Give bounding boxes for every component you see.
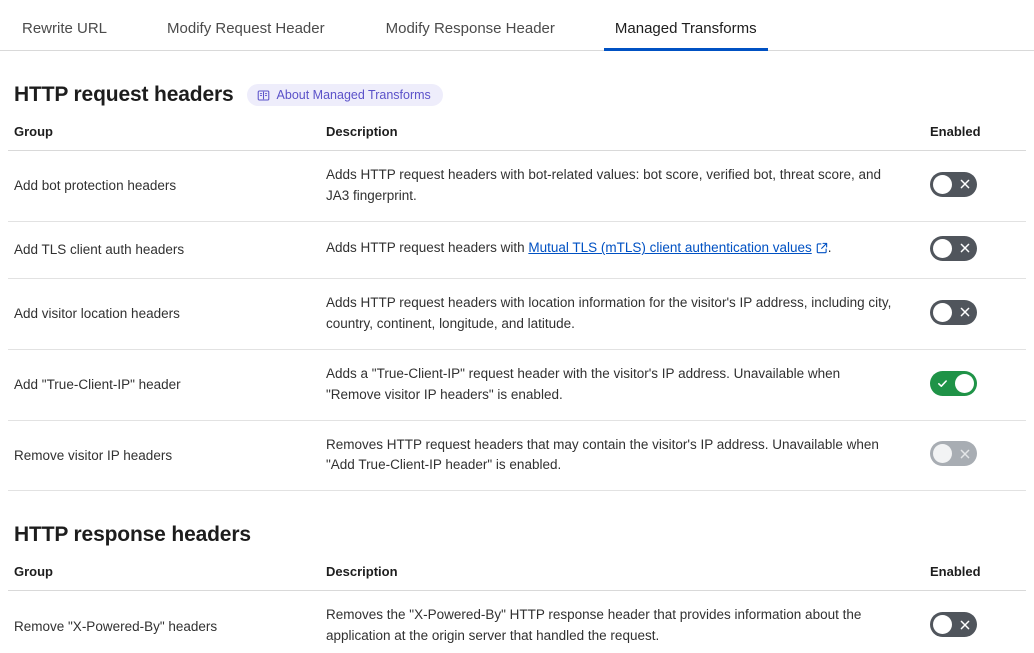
column-header-enabled: Enabled	[922, 124, 1026, 151]
row-group-label: Add bot protection headers	[8, 151, 314, 222]
row-description: Adds HTTP request headers with Mutual TL…	[314, 221, 922, 278]
table-row: Add "True-Client-IP" header Adds a "True…	[8, 349, 1026, 420]
check-icon	[930, 371, 955, 396]
row-enabled-cell	[922, 221, 1026, 278]
row-description: Removes the "X-Powered-By" HTTP response…	[314, 591, 922, 653]
response-headers-table: Group Description Enabled Remove "X-Powe…	[8, 564, 1026, 653]
column-header-group: Group	[8, 124, 314, 151]
description-text-before: Adds HTTP request headers with	[326, 240, 528, 255]
http-response-headers-section: HTTP response headers Group Description …	[0, 523, 1034, 653]
tab-modify-request-header[interactable]: Modify Request Header	[167, 21, 325, 50]
row-description: Adds HTTP request headers with bot-relat…	[314, 151, 922, 222]
toggle-add-bot-protection-headers[interactable]	[930, 172, 977, 197]
toggle-add-visitor-location-headers[interactable]	[930, 300, 977, 325]
column-header-description: Description	[314, 124, 922, 151]
page-title: HTTP request headers	[14, 83, 234, 107]
row-group-label: Add visitor location headers	[8, 278, 314, 349]
request-section-header: HTTP request headers About Managed Trans…	[8, 83, 1026, 107]
row-enabled-cell	[922, 420, 1026, 491]
column-header-enabled: Enabled	[922, 564, 1026, 591]
toggle-knob	[933, 444, 952, 463]
managed-transforms-page: Rewrite URL Modify Request Header Modify…	[0, 0, 1034, 653]
row-description: Adds HTTP request headers with location …	[314, 278, 922, 349]
tab-modify-response-header[interactable]: Modify Response Header	[386, 21, 555, 50]
table-row: Remove "X-Powered-By" headers Removes th…	[8, 591, 1026, 653]
about-managed-transforms-badge[interactable]: About Managed Transforms	[247, 84, 443, 106]
cross-icon	[952, 612, 977, 637]
cross-icon	[952, 172, 977, 197]
cross-icon	[952, 300, 977, 325]
table-header-row: Group Description Enabled	[8, 124, 1026, 151]
mtls-docs-link[interactable]: Mutual TLS (mTLS) client authentication …	[528, 240, 811, 255]
toggle-knob	[955, 374, 974, 393]
table-row: Remove visitor IP headers Removes HTTP r…	[8, 420, 1026, 491]
toggle-remove-x-powered-by-headers[interactable]	[930, 612, 977, 637]
toggle-add-true-client-ip-header[interactable]	[930, 371, 977, 396]
row-enabled-cell	[922, 591, 1026, 653]
link-label: Mutual TLS (mTLS) client authentication …	[528, 240, 811, 255]
request-headers-table: Group Description Enabled Add bot protec…	[8, 124, 1026, 491]
http-request-headers-section: HTTP request headers About Managed Trans…	[0, 83, 1034, 491]
toggle-knob	[933, 239, 952, 258]
table-row: Add visitor location headers Adds HTTP r…	[8, 278, 1026, 349]
row-description: Removes HTTP request headers that may co…	[314, 420, 922, 491]
row-group-label: Add TLS client auth headers	[8, 221, 314, 278]
table-row: Add TLS client auth headers Adds HTTP re…	[8, 221, 1026, 278]
badge-label: About Managed Transforms	[277, 88, 431, 102]
row-enabled-cell	[922, 349, 1026, 420]
response-section-header: HTTP response headers	[8, 523, 1026, 547]
row-enabled-cell	[922, 278, 1026, 349]
cross-icon	[952, 441, 977, 466]
response-section-title: HTTP response headers	[14, 523, 251, 547]
row-group-label: Remove visitor IP headers	[8, 420, 314, 491]
column-header-group: Group	[8, 564, 314, 591]
cross-icon	[952, 236, 977, 261]
row-description: Adds a "True-Client-IP" request header w…	[314, 349, 922, 420]
table-row: Add bot protection headers Adds HTTP req…	[8, 151, 1026, 222]
toggle-knob	[933, 615, 952, 634]
external-link-icon[interactable]	[816, 240, 828, 261]
toggle-knob	[933, 303, 952, 322]
row-enabled-cell	[922, 151, 1026, 222]
toggle-add-tls-client-auth-headers[interactable]	[930, 236, 977, 261]
tab-bar: Rewrite URL Modify Request Header Modify…	[0, 0, 1034, 51]
toggle-knob	[933, 175, 952, 194]
tab-managed-transforms[interactable]: Managed Transforms	[615, 21, 757, 50]
row-group-label: Add "True-Client-IP" header	[8, 349, 314, 420]
row-group-label: Remove "X-Powered-By" headers	[8, 591, 314, 653]
description-text-after: .	[828, 240, 832, 255]
tab-rewrite-url[interactable]: Rewrite URL	[22, 21, 107, 50]
book-icon	[257, 89, 270, 102]
toggle-remove-visitor-ip-headers	[930, 441, 977, 466]
column-header-description: Description	[314, 564, 922, 591]
table-header-row: Group Description Enabled	[8, 564, 1026, 591]
